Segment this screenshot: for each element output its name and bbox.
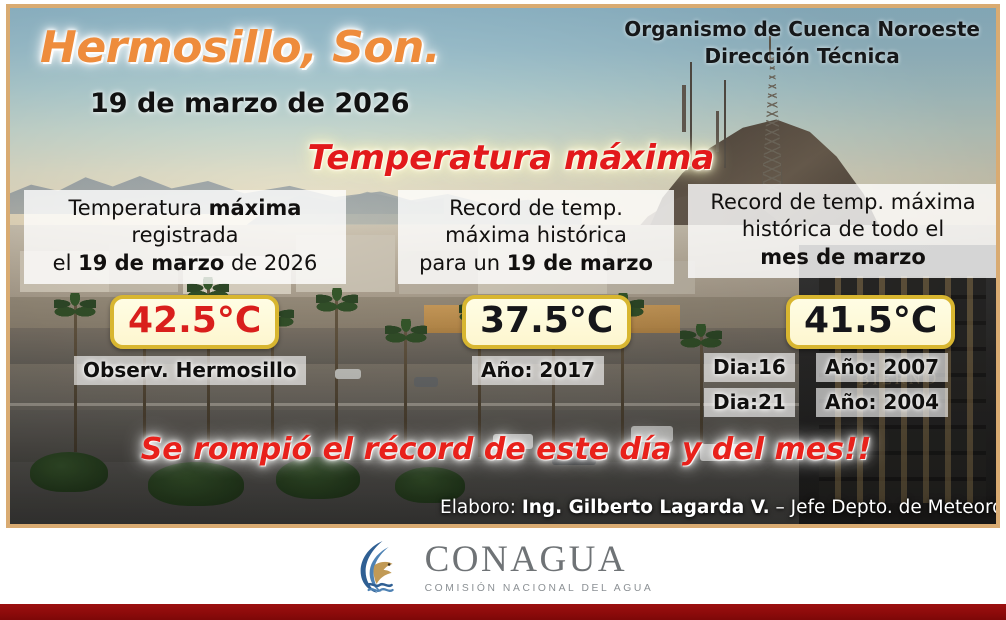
hermosillo-cityscape-photo: BIERNO Hermosillo, Son. 19 de marzo de 2… (6, 4, 1000, 528)
shrub-icon (148, 462, 244, 506)
conagua-tagline: COMISIÓN NACIONAL DEL AGUA (425, 583, 654, 594)
card-line-1-bold: máxima (209, 196, 302, 220)
temperature-badge-record-day: 37.5°C (462, 295, 631, 349)
record-broken-banner: Se rompió el récord de este día y del me… (10, 432, 996, 467)
card-line-3-pre: el (53, 251, 78, 275)
record-day-label-1: Dia:16 (704, 353, 795, 382)
record-year-label-2: Año: 2004 (816, 388, 948, 417)
card-line-1: Record de temp. (408, 195, 664, 222)
card-recorded-max: Temperatura máxima registrada el 19 de m… (24, 190, 346, 284)
card-line-3-bold: 19 de marzo (507, 251, 653, 275)
station-label: Observ. Hermosillo (74, 356, 306, 385)
conagua-eagle-water-icon (353, 538, 411, 596)
card-line-3-post: de 2026 (224, 251, 317, 275)
bottom-accent-bar (0, 602, 1006, 620)
report-date: 19 de marzo de 2026 (90, 88, 410, 119)
card-line-2: histórica de todo el (698, 216, 988, 243)
card-line-3: mes de marzo (698, 244, 988, 271)
conagua-logo-text: CONAGUA COMISIÓN NACIONAL DEL AGUA (425, 541, 654, 594)
card-line-2: máxima histórica (408, 222, 664, 249)
record-year-label-1: Año: 2007 (816, 353, 948, 382)
organization-block: Organismo de Cuenca Noroeste Dirección T… (624, 16, 980, 70)
section-heading: Temperatura máxima (10, 138, 996, 178)
card-line-3-pre: para un (419, 251, 507, 275)
infographic-root: BIERNO Hermosillo, Son. 19 de marzo de 2… (0, 0, 1006, 620)
page-title-city: Hermosillo, Son. (40, 22, 440, 73)
card-line-2: registrada (34, 222, 336, 249)
antenna-mast-head-icon (682, 85, 685, 131)
temperature-badge-recorded-max: 42.5°C (110, 295, 279, 349)
credit-role: – Jefe Depto. de Meteorología (770, 497, 1000, 518)
card-line-3: el 19 de marzo de 2026 (34, 250, 336, 277)
card-record-day: Record de temp. máxima histórica para un… (398, 190, 674, 284)
card-line-3-bold: mes de marzo (760, 245, 926, 269)
credit-prefix: Elaboro: (440, 497, 522, 518)
record-day-label-2: Dia:21 (704, 388, 795, 417)
card-line-1: Record de temp. máxima (698, 189, 988, 216)
organization-line-2: Dirección Técnica (624, 43, 980, 70)
conagua-logo: CONAGUA COMISIÓN NACIONAL DEL AGUA (353, 538, 654, 596)
record-year-label: Año: 2017 (472, 356, 604, 385)
card-record-month: Record de temp. máxima histórica de todo… (688, 184, 998, 278)
author-credit: Elaboro: Ing. Gilberto Lagarda V. – Jefe… (440, 497, 1000, 518)
temperature-badge-record-month: 41.5°C (786, 295, 955, 349)
card-line-1: Temperatura máxima (34, 195, 336, 222)
car-icon (335, 369, 361, 379)
conagua-wordmark: CONAGUA (425, 541, 654, 578)
card-line-3: para un 19 de marzo (408, 250, 664, 277)
card-line-3-bold: 19 de marzo (78, 251, 224, 275)
organization-line-1: Organismo de Cuenca Noroeste (624, 16, 980, 43)
card-line-1-pre: Temperatura (69, 196, 209, 220)
credit-author: Ing. Gilberto Lagarda V. (522, 497, 770, 518)
car-icon (414, 377, 438, 387)
